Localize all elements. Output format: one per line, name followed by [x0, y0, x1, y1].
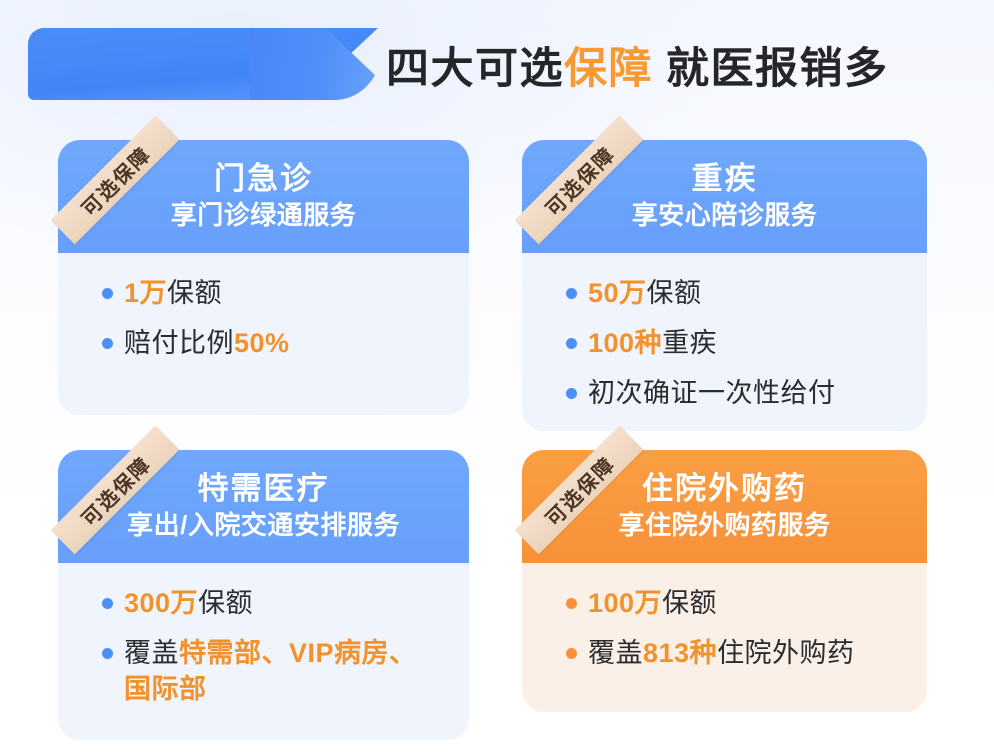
- page-title-highlight: 保障: [564, 34, 653, 96]
- benefit-bullet-plain: 保额: [167, 278, 222, 308]
- benefit-card-title: 门急诊: [214, 162, 313, 196]
- benefit-bullet-text: 赔付比例50%: [124, 325, 290, 361]
- benefit-bullet-highlight: 100种: [588, 328, 662, 358]
- benefit-bullet-plain: 赔付比例: [124, 328, 234, 358]
- bullet-dot-icon: [566, 598, 577, 609]
- benefit-card-subtitle: 享出/入院交通安排服务: [127, 510, 400, 541]
- benefit-card[interactable]: 门急诊享门诊绿通服务1万保额赔付比例50%可选保障: [58, 140, 469, 415]
- benefit-card-body: 300万保额覆盖特需部、VIP病房、国际部: [58, 563, 469, 740]
- benefit-card-body: 100万保额覆盖813种住院外购药: [522, 563, 927, 712]
- benefit-bullet-plain: 保额: [647, 278, 702, 308]
- benefit-bullet-plain: 保额: [662, 588, 717, 618]
- benefit-bullet-text: 1万保额: [124, 275, 222, 311]
- bullet-dot-icon: [102, 598, 113, 609]
- benefit-bullet-plain: 重疾: [662, 328, 717, 358]
- benefit-bullet-highlight: 300万: [124, 588, 198, 618]
- benefit-bullet-text: 50万保额: [588, 275, 702, 311]
- benefit-bullet-item: 赔付比例50%: [102, 325, 443, 361]
- benefit-bullet-item: 300万保额: [102, 585, 443, 621]
- benefit-bullet-highlight: 813种: [643, 638, 717, 668]
- benefit-card[interactable]: 住院外购药享住院外购药服务100万保额覆盖813种住院外购药可选保障: [522, 450, 927, 712]
- promo-stage: 四大可选保障就医报销多 门急诊享门诊绿通服务1万保额赔付比例50%可选保障重疾享…: [0, 0, 994, 752]
- benefit-bullet-item: 100种重疾: [566, 325, 901, 361]
- bullet-dot-icon: [102, 338, 113, 349]
- benefit-card-title: 住院外购药: [642, 472, 807, 506]
- benefit-card-title: 特需医疗: [198, 472, 330, 506]
- benefit-bullet-text: 覆盖特需部、VIP病房、国际部: [124, 635, 443, 707]
- benefit-bullet-plain: 覆盖: [124, 638, 179, 668]
- benefit-card-body: 1万保额赔付比例50%: [58, 253, 469, 415]
- benefit-bullet-item: 覆盖813种住院外购药: [566, 635, 901, 671]
- benefit-bullet-plain: 保额: [198, 588, 253, 618]
- benefit-card-subtitle: 享门诊绿通服务: [171, 200, 357, 231]
- benefit-bullet-highlight: 50%: [234, 328, 290, 358]
- benefit-card-subtitle: 享安心陪诊服务: [632, 200, 818, 231]
- benefit-bullet-highlight: 1万: [124, 278, 167, 308]
- benefit-bullet-highlight: 100万: [588, 588, 662, 618]
- benefit-bullet-item: 100万保额: [566, 585, 901, 621]
- page-header: 四大可选保障就医报销多: [0, 0, 994, 124]
- benefit-bullet-highlight: 50万: [588, 278, 647, 308]
- benefit-bullet-item: 覆盖特需部、VIP病房、国际部: [102, 635, 443, 707]
- bullet-dot-icon: [102, 288, 113, 299]
- benefit-card[interactable]: 重疾享安心陪诊服务50万保额100种重疾初次确证一次性给付可选保障: [522, 140, 927, 431]
- page-title-part1: 四大可选: [386, 34, 564, 96]
- benefit-bullet-text: 初次确证一次性给付: [588, 375, 836, 411]
- benefit-bullet-item: 1万保额: [102, 275, 443, 311]
- bullet-dot-icon: [566, 388, 577, 399]
- bullet-dot-icon: [102, 648, 113, 659]
- benefit-bullet-item: 初次确证一次性给付: [566, 375, 901, 411]
- benefit-bullet-text: 100万保额: [588, 585, 717, 621]
- benefit-bullet-text: 100种重疾: [588, 325, 717, 361]
- page-title: 四大可选保障就医报销多: [386, 34, 889, 96]
- benefit-bullet-plain: 覆盖: [588, 638, 643, 668]
- benefit-bullet-plain: 住院外购药: [717, 638, 855, 668]
- benefit-card-subtitle: 享住院外购药服务: [618, 510, 830, 541]
- benefit-card-body: 50万保额100种重疾初次确证一次性给付: [522, 253, 927, 431]
- bullet-dot-icon: [566, 288, 577, 299]
- benefit-bullet-item: 50万保额: [566, 275, 901, 311]
- benefit-bullet-text: 300万保额: [124, 585, 253, 621]
- benefit-card[interactable]: 特需医疗享出/入院交通安排服务300万保额覆盖特需部、VIP病房、国际部可选保障: [58, 450, 469, 740]
- bullet-dot-icon: [566, 338, 577, 349]
- benefit-bullet-text: 覆盖813种住院外购药: [588, 635, 855, 671]
- bullet-dot-icon: [566, 648, 577, 659]
- benefit-card-title: 重疾: [692, 162, 758, 196]
- page-title-part2: 就医报销多: [666, 34, 889, 96]
- benefit-bullet-plain: 初次确证一次性给付: [588, 378, 836, 408]
